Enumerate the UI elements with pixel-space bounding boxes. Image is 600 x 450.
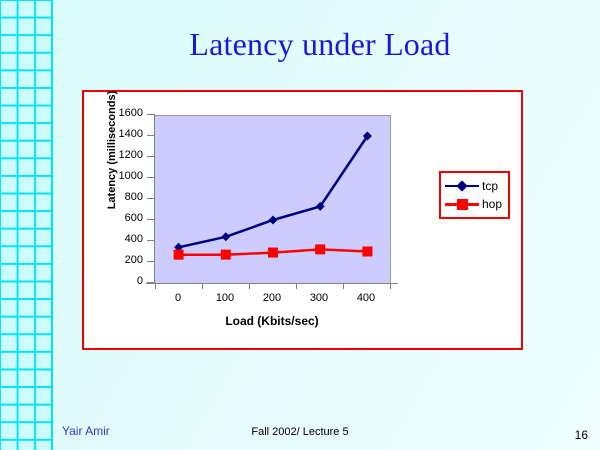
y-tick-3: 600 [147,219,154,220]
data-point-hop-100 [221,250,231,260]
data-point-hop-400 [362,247,372,257]
x-axis-title: Load (Kbits/sec) [146,314,398,328]
x-tick-label-2: 200 [252,292,292,304]
legend-item-hop: hop [445,195,502,213]
footer-page-number: 16 [575,428,588,442]
y-tick-5: 1000 [147,177,154,178]
legend-item-tcp: tcp [445,177,502,195]
data-point-hop-300 [315,244,325,254]
legend-label-hop: hop [482,198,502,210]
data-point-hop-200 [268,248,278,258]
decorative-grid-strip [0,0,53,450]
y-axis-title: Latency (milliseconds) [106,70,118,230]
x-tick-label-3: 300 [299,292,339,304]
slide-canvas: Latency under Load 0 200 400 600 800 100… [0,0,600,450]
x-tick-label-1: 100 [205,292,245,304]
y-tick-label-7: 1400 [119,128,143,140]
y-tick-label-3: 600 [125,212,143,224]
y-tick-6: 1200 [147,156,154,157]
y-tick-label-8: 1600 [119,107,143,119]
y-tick-label-6: 1200 [119,149,143,161]
chart-legend: tcp hop [439,171,510,219]
x-tick-label-0: 0 [158,292,198,304]
y-tick-8: 1600 [147,114,154,115]
y-tick-label-5: 1000 [119,170,143,182]
y-tick-label-1: 200 [125,254,143,266]
y-tick-0: 0 [147,282,154,283]
x-tick-label-4: 400 [346,292,386,304]
data-point-hop-0 [174,250,184,260]
series-line-tcp [179,136,368,247]
square-marker-icon [457,199,468,210]
chart-series-layer [155,115,391,284]
diamond-marker-icon [456,180,467,191]
data-point-tcp-200 [269,216,278,225]
legend-swatch-hop [445,197,479,211]
chart-frame: 0 200 400 600 800 1000 1200 1400 1600 0 … [82,90,523,350]
y-tick-label-2: 400 [125,233,143,245]
y-tick-label-0: 0 [137,275,143,287]
y-tick-1: 200 [147,261,154,262]
y-tick-4: 800 [147,198,154,199]
y-tick-label-4: 800 [125,191,143,203]
data-point-tcp-100 [221,232,230,241]
footer-course-info: Fall 2002/ Lecture 5 [0,426,600,438]
decorative-grid-edge [51,0,53,450]
y-tick-2: 400 [147,240,154,241]
page-title: Latency under Load [60,26,580,63]
legend-label-tcp: tcp [482,180,498,192]
y-tick-7: 1400 [147,135,154,136]
legend-swatch-tcp [445,179,479,193]
